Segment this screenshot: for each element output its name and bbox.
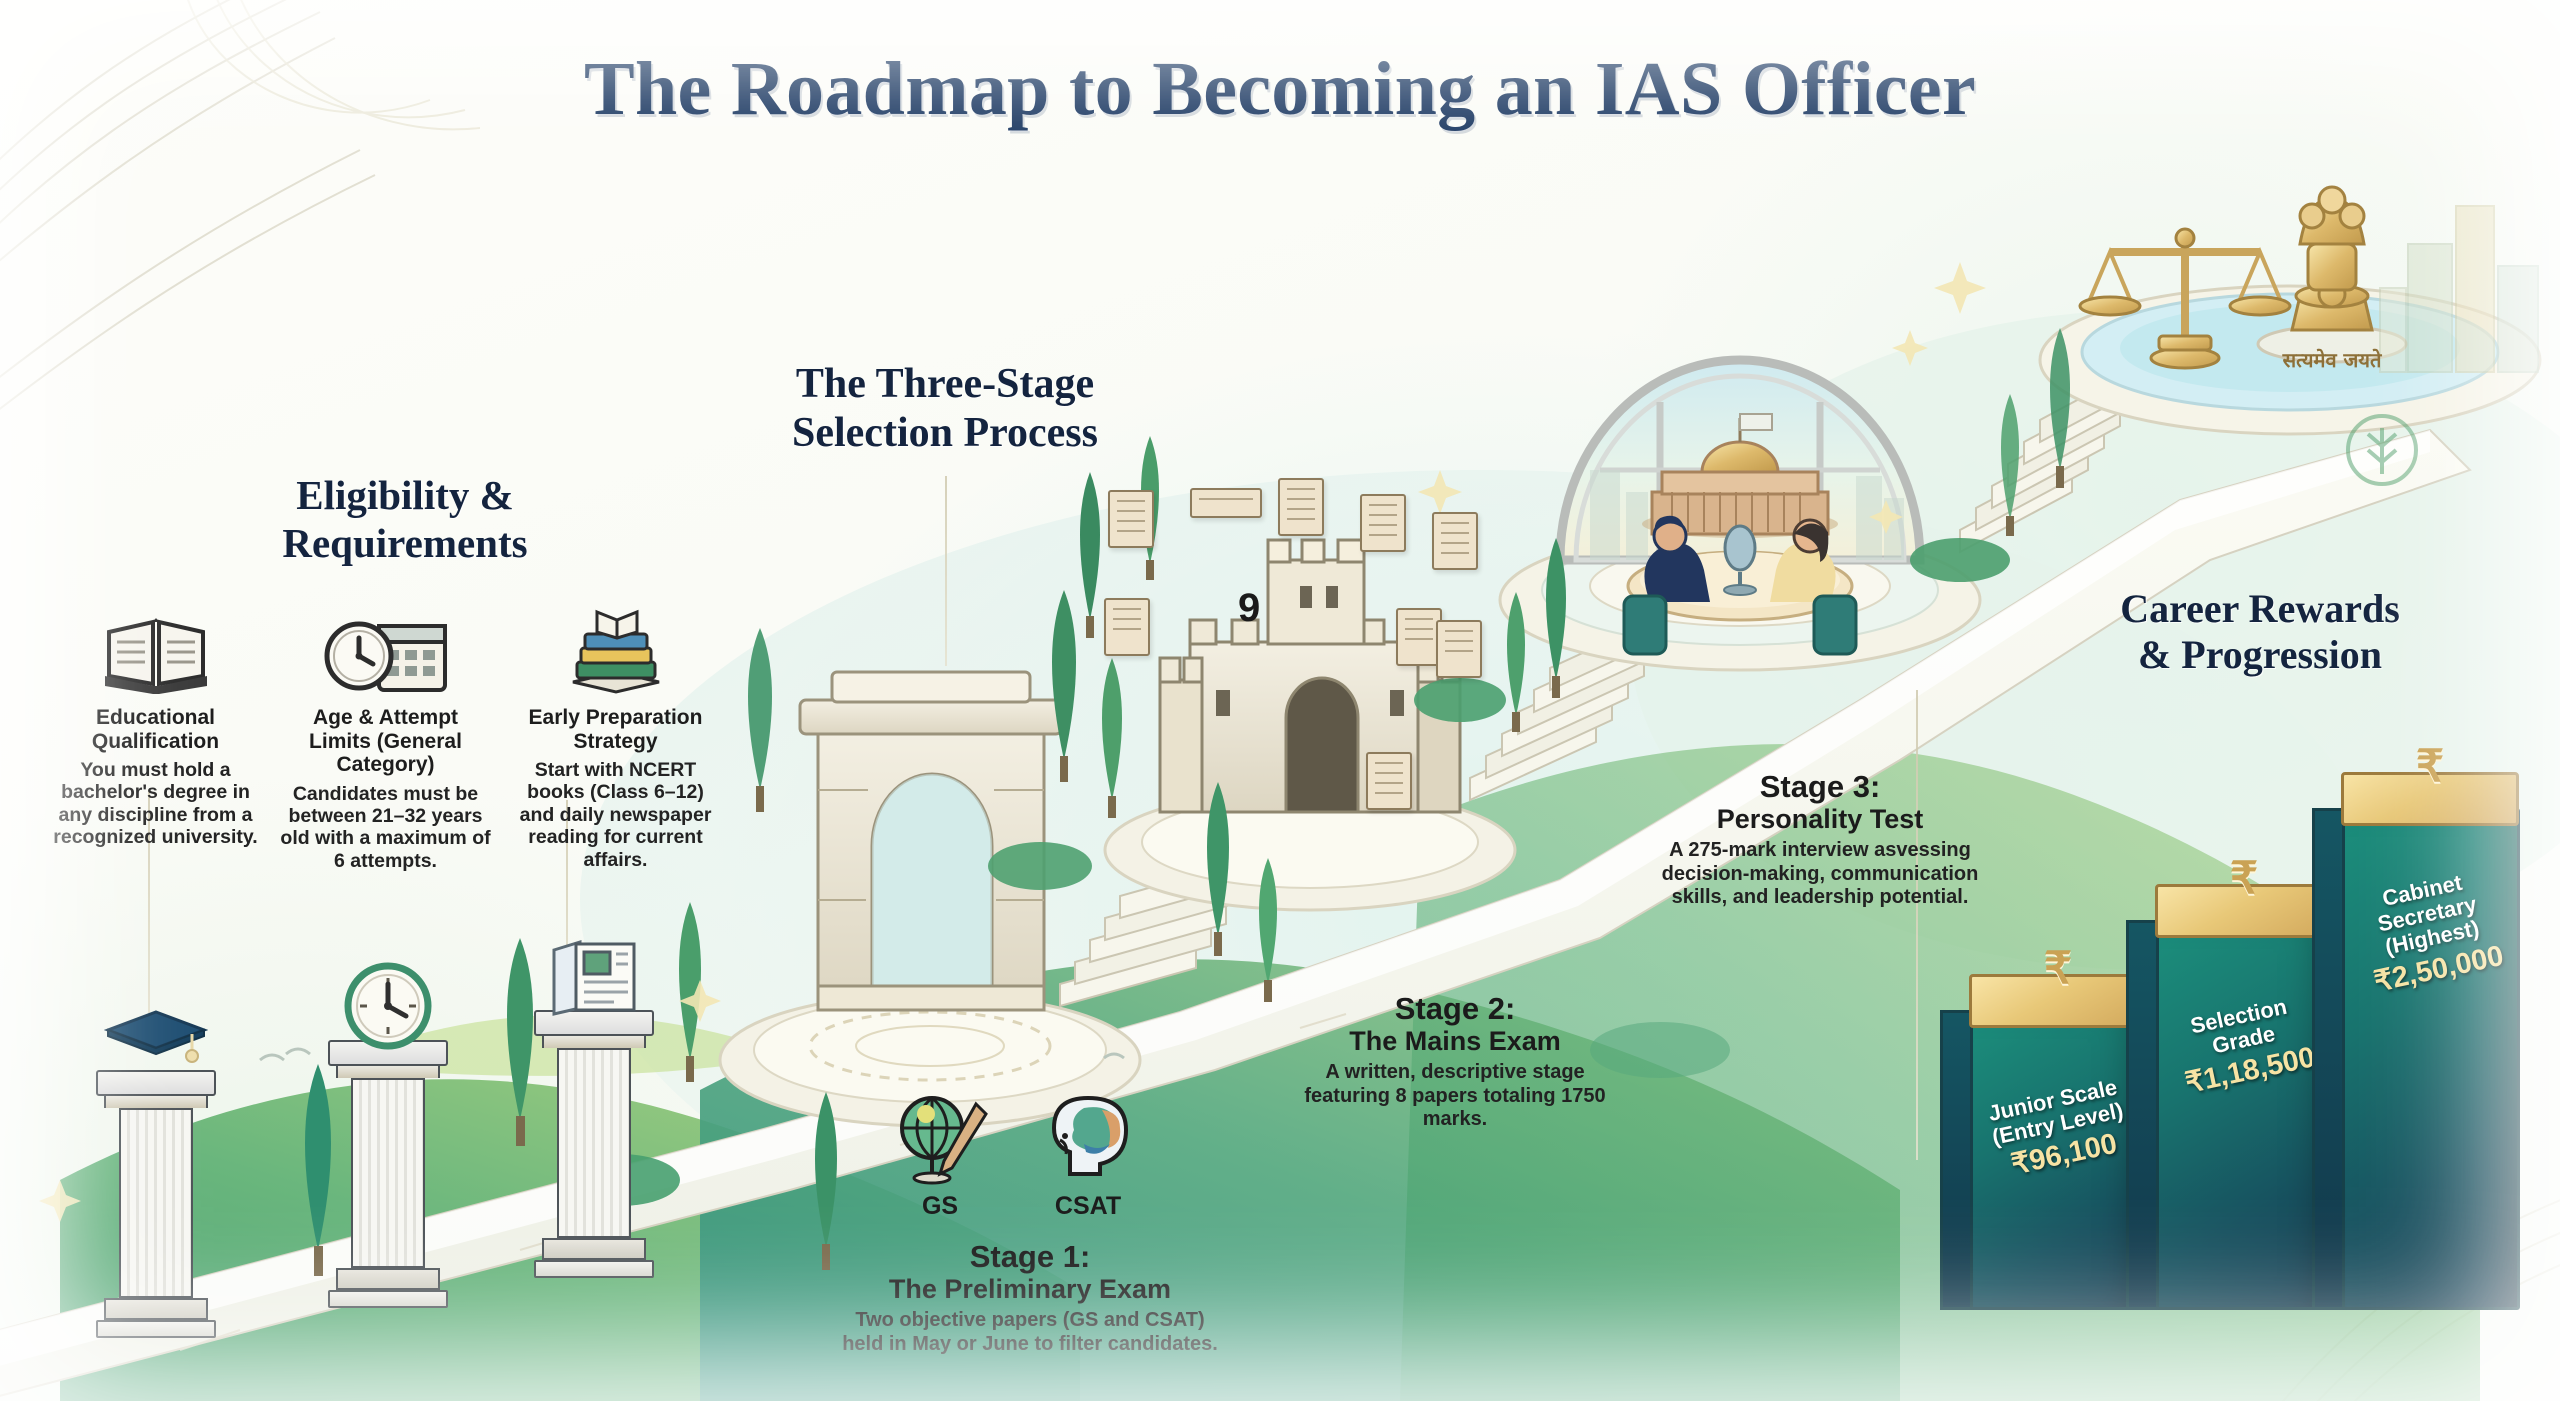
graduation-cap-icon (96, 1008, 216, 1068)
stage-1-icon-label-csat: CSAT (1028, 1192, 1148, 1221)
stage-2-description: A written, descriptive stage featuring 8… (1290, 1061, 1620, 1131)
pillar-educational-qualification (96, 1070, 216, 1338)
selection-heading-line2: Selection Process (792, 410, 1098, 456)
salary-bar-2: ₹ Cabinet Secretary (Highest) ₹2,50,000 (2342, 808, 2520, 1310)
newspaper-icon (534, 936, 654, 1018)
stage-1-icon-label-gs: GS (880, 1192, 1000, 1221)
section-heading-eligibility: Eligibility & Requirements (240, 472, 570, 567)
scroll-paper (1278, 478, 1324, 536)
bar-top-face: ₹ (2341, 772, 2519, 826)
stage-1-name: The Preliminary Exam (840, 1274, 1220, 1304)
career-heading-line2: & Progression (2138, 632, 2382, 677)
stage-1-icon-head-brain (1040, 1086, 1140, 1191)
pillar-base (336, 1268, 439, 1290)
bar-side-face (1940, 1010, 1974, 1310)
stage-1-number: Stage 1: (840, 1240, 1220, 1274)
section-heading-career: Career Rewards & Progression (2095, 586, 2425, 679)
pillar-base (104, 1298, 207, 1320)
pillar-early-preparation (534, 1010, 654, 1278)
eligibility-title-0: Educational Qualification (48, 706, 263, 753)
stage-3-name: Personality Test (1660, 804, 1980, 834)
books-stack-icon (508, 600, 723, 696)
eligibility-title-1: Age & Attempt Limits (General Category) (278, 706, 493, 777)
infographic-canvas: The Roadmap to Becoming an IAS Officer E… (0, 0, 2560, 1401)
eligibility-title-1-line3: Category) (336, 753, 434, 776)
india-gate-arch (800, 672, 1062, 1010)
clock-icon (328, 962, 448, 1052)
eligibility-heading-line2: Requirements (282, 520, 527, 566)
salary-bar-chart: ₹ Junior Scale (Entry Level) ₹96,100 ₹ S… (1960, 720, 2540, 1340)
eligibility-title-2: Early Preparation Strategy (508, 706, 723, 753)
scroll-paper (1432, 512, 1478, 570)
stage-2-name: The Mains Exam (1290, 1026, 1620, 1056)
bar-top-face: ₹ (1969, 974, 2147, 1028)
bar-top-face: ₹ (2155, 884, 2333, 938)
bar-side-face (2312, 808, 2346, 1310)
salary-bar-1: ₹ Selection Grade ₹1,18,500 (2156, 920, 2334, 1310)
eligibility-title-0-line2: Qualification (92, 730, 219, 753)
eligibility-title-1-line2: Limits (General (309, 730, 462, 753)
eligibility-heading-line1: Eligibility & (296, 472, 514, 518)
eligibility-title-2-line1: Early Preparation (529, 706, 703, 729)
leader-line-selection (945, 476, 947, 666)
bar-front-face (2156, 920, 2334, 1310)
page-title: The Roadmap to Becoming an IAS Officer (0, 46, 2560, 133)
eligibility-title-2-line2: Strategy (573, 730, 657, 753)
eligibility-title-1-line1: Age & Attempt (313, 706, 458, 729)
stage-1-description: Two objective papers (GS and CSAT) held … (840, 1309, 1220, 1355)
section-heading-selection: The Three-Stage Selection Process (735, 360, 1155, 457)
pillar-age-attempt-limits (328, 1040, 448, 1308)
selection-heading-line1: The Three-Stage (796, 361, 1094, 407)
stage-3-caption: Stage 3: Personality Test A 275-mark int… (1660, 770, 1980, 909)
graduation-book-icon (48, 600, 263, 696)
pillar-neck (542, 1036, 645, 1048)
salary-bar-0: ₹ Junior Scale (Entry Level) ₹96,100 (1970, 1010, 2148, 1310)
pillar-foot (534, 1260, 654, 1278)
career-heading-line1: Career Rewards (2120, 586, 2400, 631)
scroll-paper (1360, 494, 1406, 552)
pillar-foot (96, 1320, 216, 1338)
stage-1-icon-globe-pencil (890, 1088, 990, 1193)
scroll-paper (1108, 490, 1154, 548)
pillar-capital (96, 1070, 216, 1096)
scroll-paper (1366, 752, 1412, 810)
eligibility-card-2: Early Preparation Strategy Start with NC… (508, 600, 723, 871)
pillar-foot (328, 1290, 448, 1308)
scroll-paper (1104, 598, 1150, 656)
pillar-shaft (557, 1048, 631, 1238)
stage-2-number: Stage 2: (1290, 992, 1620, 1026)
bar-side-face (2126, 920, 2160, 1310)
emblem-motto: सत्यमेव जयते (2256, 346, 2408, 373)
rupee-coin-icon: ₹ (2416, 741, 2444, 792)
eligibility-card-1: Age & Attempt Limits (General Category) … (278, 600, 493, 872)
eligibility-title-0-line1: Educational (96, 706, 215, 729)
pillar-shaft (119, 1108, 193, 1298)
mains-paper-count: 9 (1238, 586, 1260, 631)
rupee-coin-icon: ₹ (2044, 943, 2072, 994)
eligibility-card-0: Educational Qualification You must hold … (48, 600, 263, 849)
stage-1-caption: Stage 1: The Preliminary Exam Two object… (840, 1240, 1220, 1356)
clock-calendar-icon (278, 600, 493, 696)
pillar-base (542, 1238, 645, 1260)
pillar-neck (104, 1096, 207, 1108)
rupee-coin-icon: ₹ (2230, 853, 2258, 904)
stage-3-description: A 275-mark interview asvessing decision-… (1660, 839, 1980, 909)
eligibility-body-2: Start with NCERT books (Class 6–12) and … (508, 759, 723, 871)
scroll-paper (1190, 488, 1262, 518)
pillar-shaft (351, 1078, 425, 1268)
eligibility-body-0: You must hold a bachelor's degree in any… (48, 759, 263, 849)
eligibility-body-1: Candidates must be between 21–32 years o… (278, 783, 493, 873)
stage-3-number: Stage 3: (1660, 770, 1980, 804)
pillar-neck (336, 1066, 439, 1078)
stage-2-caption: Stage 2: The Mains Exam A written, descr… (1290, 992, 1620, 1131)
leader-line-career (1916, 690, 1918, 1160)
scroll-paper (1436, 620, 1482, 678)
